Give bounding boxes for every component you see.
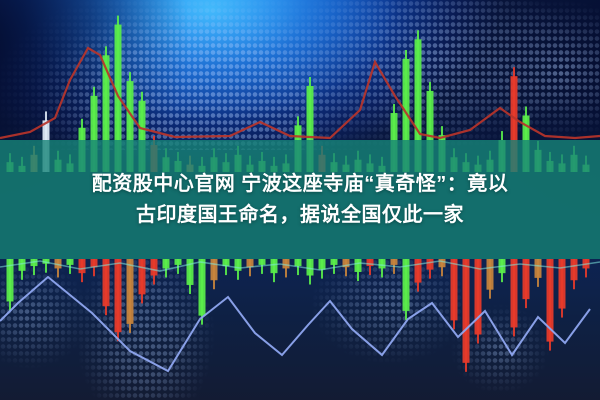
- banner-image: 配资股中心官网 宁波这座寺庙“真奇怪”：竟以 古印度国王命名，据说全国仅此一家: [0, 0, 600, 400]
- headline-line-2: 古印度国王命名，据说全国仅此一家: [136, 203, 464, 228]
- candlestick-chart-lower: [0, 259, 600, 400]
- headline-line-1: 配资股中心官网 宁波这座寺庙“真奇怪”：竟以: [92, 172, 509, 197]
- zigzag-line-periwinkle: [0, 277, 590, 371]
- headline-band: 配资股中心官网 宁波这座寺庙“真奇怪”：竟以 古印度国王命名，据说全国仅此一家: [0, 140, 600, 259]
- trend-line-red: [0, 48, 600, 138]
